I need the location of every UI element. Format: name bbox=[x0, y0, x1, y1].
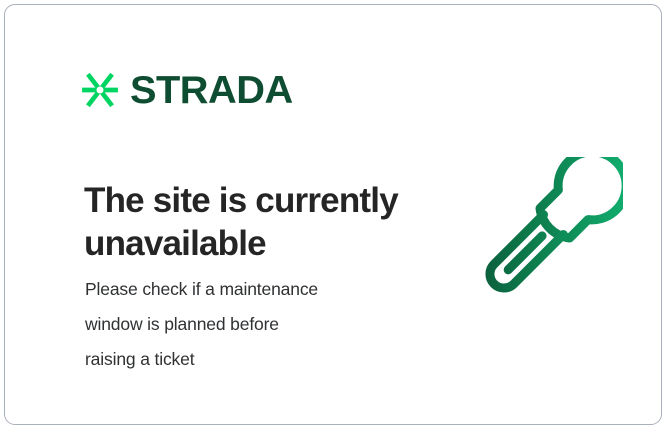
strada-asterisk-icon bbox=[79, 69, 121, 111]
page-title: The site is currently unavailable bbox=[84, 180, 444, 265]
status-card: STRADA The site is currently unavailable… bbox=[4, 4, 662, 425]
brand-wordmark: STRADA bbox=[130, 71, 293, 110]
error-page: STRADA The site is currently unavailable… bbox=[0, 0, 666, 436]
description-line: window is planned before bbox=[85, 307, 405, 342]
wrench-icon bbox=[457, 157, 623, 319]
description-line: Please check if a maintenance bbox=[85, 272, 405, 307]
brand-logo: STRADA bbox=[79, 69, 290, 111]
page-description: Please check if a maintenance window is … bbox=[85, 272, 405, 377]
description-line: raising a ticket bbox=[85, 342, 405, 377]
